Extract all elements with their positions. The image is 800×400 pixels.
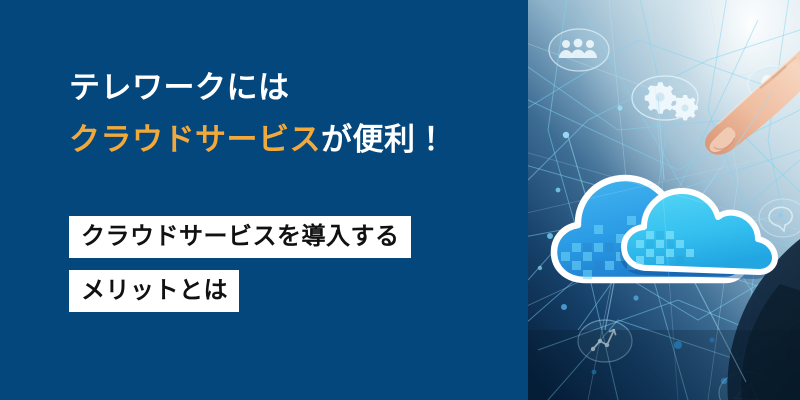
headline-accent-text: クラウドサービス	[69, 122, 321, 157]
cloud-network-illustration	[528, 0, 800, 400]
gears-icon	[632, 76, 698, 120]
headline-line-2: クラウドサービスが便利！	[69, 114, 509, 166]
headline-line-1: テレワークには	[69, 62, 509, 114]
subtitle-line-2: メリットとは	[69, 270, 239, 312]
promo-banner: テレワークには クラウドサービスが便利！ クラウドサービスを導入する メリットと…	[0, 0, 800, 400]
headline-text-2: が便利！	[321, 122, 447, 157]
page-title: テレワークには クラウドサービスが便利！	[69, 62, 509, 166]
text-panel: テレワークには クラウドサービスが便利！ クラウドサービスを導入する メリットと…	[0, 0, 528, 400]
cloud-network-photo	[528, 0, 800, 400]
subtitle-line-1: クラウドサービスを導入する	[69, 216, 411, 258]
subtitle-block: クラウドサービスを導入する メリットとは	[69, 216, 411, 312]
users-icon	[549, 29, 609, 71]
headline-text-1: テレワークには	[69, 70, 290, 105]
